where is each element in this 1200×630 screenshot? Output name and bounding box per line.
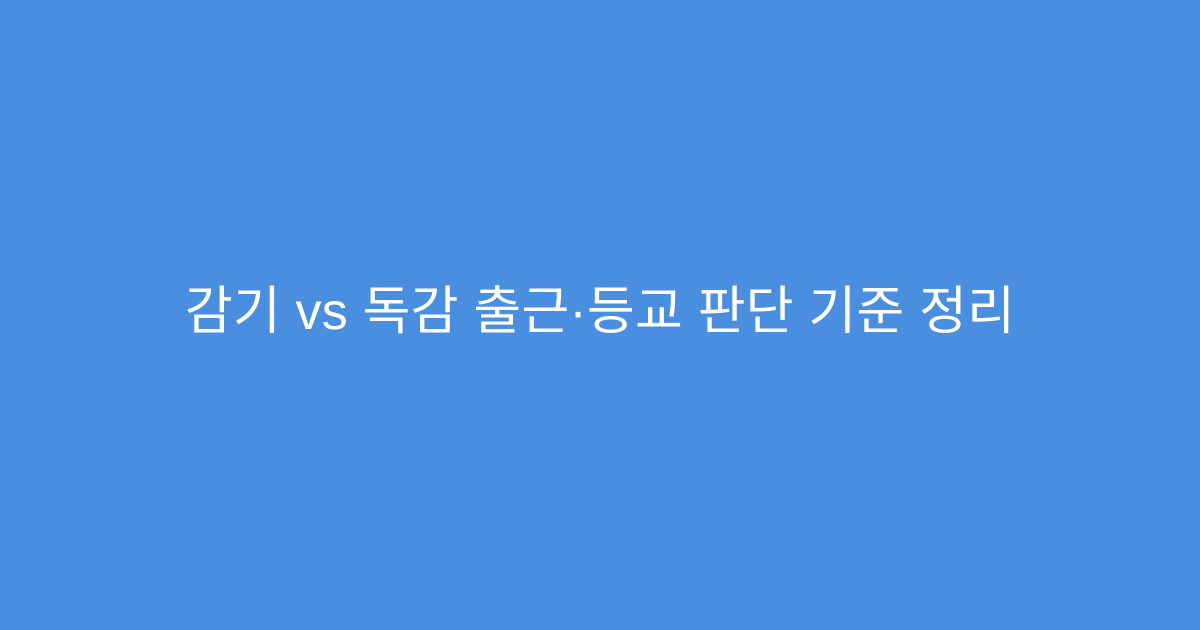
headline-container: 감기 vs 독감 출근·등교 판단 기준 정리	[50, 281, 1150, 344]
social-card-canvas: 감기 vs 독감 출근·등교 판단 기준 정리	[0, 0, 1200, 630]
card-title: 감기 vs 독감 출근·등교 판단 기준 정리	[185, 281, 1015, 344]
